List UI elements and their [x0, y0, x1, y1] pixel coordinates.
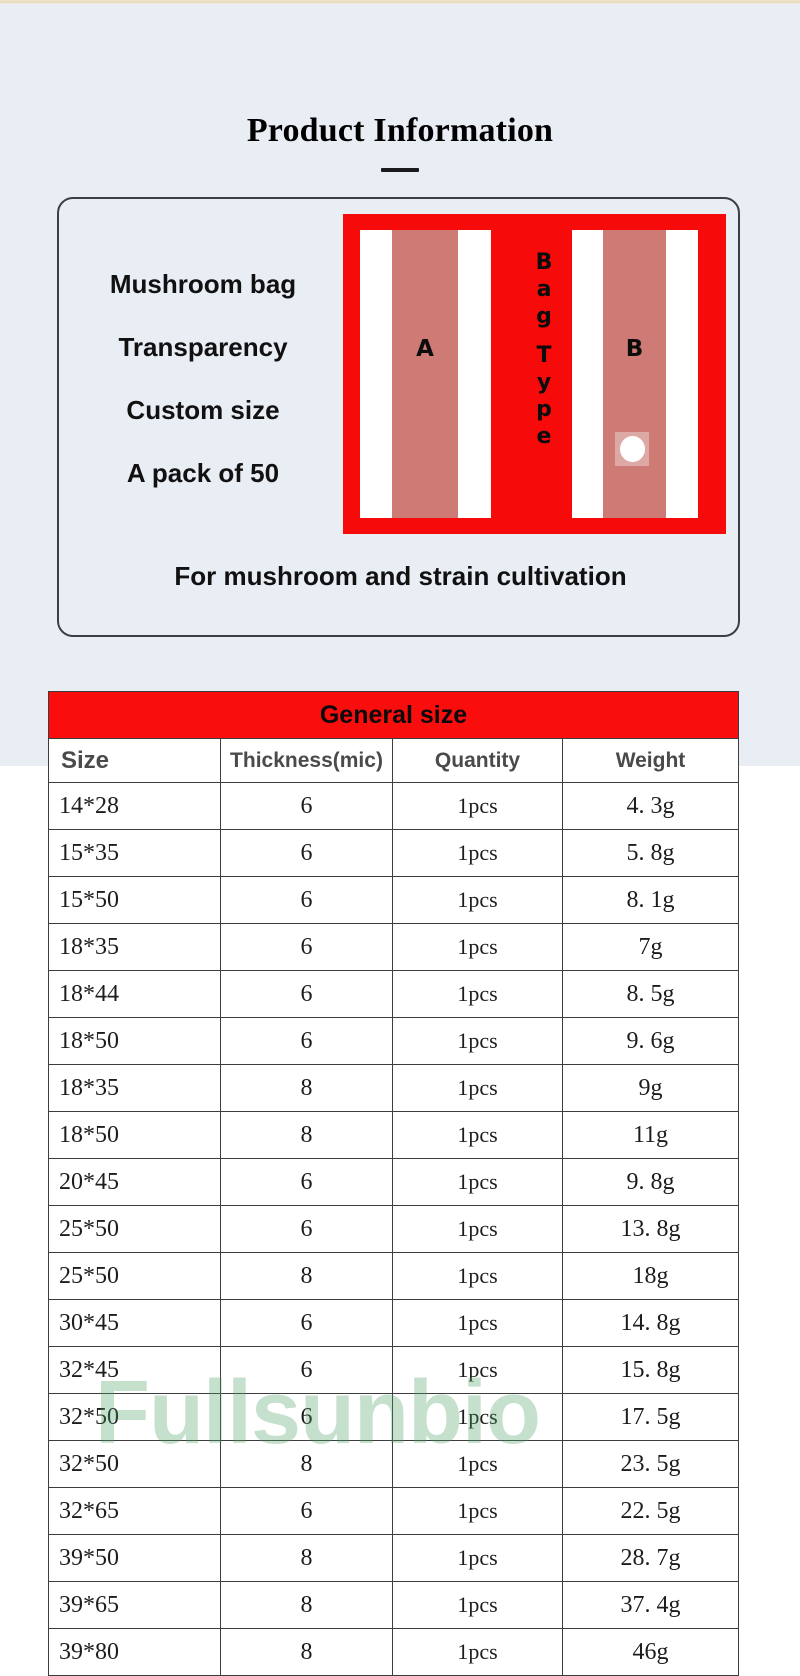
- product-info-card: Mushroom bag Transparency Custom size A …: [57, 197, 740, 637]
- cell-size: 18*35: [49, 924, 221, 971]
- cell-size: 18*50: [49, 1018, 221, 1065]
- table-row: 14*2861pcs4. 3g: [49, 783, 739, 830]
- table-banner-row: General size: [49, 692, 739, 739]
- bag-b-right-white-stripe: [666, 230, 698, 518]
- cell-thickness: 8: [221, 1065, 393, 1112]
- cell-quantity: 1pcs: [393, 1347, 563, 1394]
- cell-weight: 22. 5g: [563, 1488, 739, 1535]
- table-row: 32*4561pcs15. 8g: [49, 1347, 739, 1394]
- feature-item-2: Transparency: [59, 334, 347, 360]
- table-row: 15*3561pcs5. 8g: [49, 830, 739, 877]
- feature-item-4: A pack of 50: [59, 460, 347, 486]
- cell-thickness: 6: [221, 877, 393, 924]
- title-underline-rule: [381, 168, 419, 172]
- cell-thickness: 6: [221, 1018, 393, 1065]
- cell-thickness: 6: [221, 830, 393, 877]
- cell-quantity: 1pcs: [393, 1206, 563, 1253]
- cell-thickness: 6: [221, 971, 393, 1018]
- cell-weight: 9g: [563, 1065, 739, 1112]
- table-row: 15*5061pcs8. 1g: [49, 877, 739, 924]
- cell-thickness: 8: [221, 1253, 393, 1300]
- cell-thickness: 6: [221, 1488, 393, 1535]
- feature-item-1: Mushroom bag: [59, 271, 347, 297]
- cell-thickness: 8: [221, 1582, 393, 1629]
- cell-weight: 8. 5g: [563, 971, 739, 1018]
- cell-weight: 15. 8g: [563, 1347, 739, 1394]
- table-row: 20*4561pcs9. 8g: [49, 1159, 739, 1206]
- cell-quantity: 1pcs: [393, 1253, 563, 1300]
- bag-type-vertical-label: B a g T y p e: [529, 250, 559, 451]
- cell-thickness: 6: [221, 1347, 393, 1394]
- cell-weight: 46g: [563, 1629, 739, 1676]
- table-row: 18*5061pcs9. 6g: [49, 1018, 739, 1065]
- cell-weight: 4. 3g: [563, 783, 739, 830]
- cell-weight: 13. 8g: [563, 1206, 739, 1253]
- bag-a-left-white-stripe: [360, 230, 392, 518]
- cell-size: 14*28: [49, 783, 221, 830]
- cell-quantity: 1pcs: [393, 1441, 563, 1488]
- table-row: 18*3581pcs9g: [49, 1065, 739, 1112]
- cell-quantity: 1pcs: [393, 1629, 563, 1676]
- cell-weight: 8. 1g: [563, 877, 739, 924]
- cell-quantity: 1pcs: [393, 1065, 563, 1112]
- cell-weight: 9. 6g: [563, 1018, 739, 1065]
- bag-type-spacer: [529, 330, 559, 343]
- cell-size: 18*44: [49, 971, 221, 1018]
- cell-size: 30*45: [49, 1300, 221, 1347]
- cell-weight: 18g: [563, 1253, 739, 1300]
- table-row: 39*6581pcs37. 4g: [49, 1582, 739, 1629]
- table-row: 39*5081pcs28. 7g: [49, 1535, 739, 1582]
- column-header-weight: Weight: [563, 739, 739, 783]
- bag-type-illustration: A B B a g T y p e: [343, 214, 726, 534]
- cell-quantity: 1pcs: [393, 924, 563, 971]
- cell-weight: 14. 8g: [563, 1300, 739, 1347]
- table-row: 18*4461pcs8. 5g: [49, 971, 739, 1018]
- table-body: 14*2861pcs4. 3g15*3561pcs5. 8g15*5061pcs…: [49, 783, 739, 1676]
- cell-size: 18*35: [49, 1065, 221, 1112]
- bag-type-char-5: y: [529, 370, 559, 397]
- table-row: 32*5081pcs23. 5g: [49, 1441, 739, 1488]
- bag-type-char-3: g: [529, 304, 559, 331]
- cell-thickness: 8: [221, 1112, 393, 1159]
- cell-quantity: 1pcs: [393, 971, 563, 1018]
- table-row: 32*5061pcs17. 5g: [49, 1394, 739, 1441]
- bag-type-char-4: T: [529, 343, 559, 370]
- bag-a-label: A: [392, 336, 458, 362]
- cell-quantity: 1pcs: [393, 1300, 563, 1347]
- cell-quantity: 1pcs: [393, 1112, 563, 1159]
- bag-b-left-white-stripe: [572, 230, 603, 518]
- cell-size: 32*45: [49, 1347, 221, 1394]
- table-row: 32*6561pcs22. 5g: [49, 1488, 739, 1535]
- cell-weight: 28. 7g: [563, 1535, 739, 1582]
- table-banner-title: General size: [49, 692, 739, 739]
- table-row: 18*3561pcs7g: [49, 924, 739, 971]
- table-row: 25*5081pcs18g: [49, 1253, 739, 1300]
- table-row: 39*8081pcs46g: [49, 1629, 739, 1676]
- column-header-thickness: Thickness(mic): [221, 739, 393, 783]
- feature-item-3: Custom size: [59, 397, 347, 423]
- bag-type-char-2: a: [529, 277, 559, 304]
- feature-list: Mushroom bag Transparency Custom size A …: [59, 271, 347, 523]
- cell-size: 15*35: [49, 830, 221, 877]
- cell-size: 20*45: [49, 1159, 221, 1206]
- cell-quantity: 1pcs: [393, 877, 563, 924]
- cell-size: 32*50: [49, 1441, 221, 1488]
- table-row: 18*5081pcs11g: [49, 1112, 739, 1159]
- table-row: 25*5061pcs13. 8g: [49, 1206, 739, 1253]
- cell-weight: 9. 8g: [563, 1159, 739, 1206]
- table-header-row: Size Thickness(mic) Quantity Weight: [49, 739, 739, 783]
- cell-quantity: 1pcs: [393, 1394, 563, 1441]
- cell-size: 39*65: [49, 1582, 221, 1629]
- page-title: Product Information: [0, 112, 800, 150]
- bag-a-body: [392, 230, 458, 518]
- cell-thickness: 8: [221, 1629, 393, 1676]
- cell-size: 15*50: [49, 877, 221, 924]
- cell-weight: 17. 5g: [563, 1394, 739, 1441]
- cell-quantity: 1pcs: [393, 830, 563, 877]
- cell-quantity: 1pcs: [393, 1018, 563, 1065]
- cell-thickness: 8: [221, 1535, 393, 1582]
- bag-type-char-1: B: [529, 250, 559, 277]
- column-header-size: Size: [49, 739, 221, 783]
- cell-thickness: 6: [221, 924, 393, 971]
- cell-size: 25*50: [49, 1206, 221, 1253]
- cell-weight: 7g: [563, 924, 739, 971]
- bag-type-char-6: p: [529, 397, 559, 424]
- cell-quantity: 1pcs: [393, 1159, 563, 1206]
- bag-b-body: [603, 230, 666, 518]
- cell-quantity: 1pcs: [393, 783, 563, 830]
- cell-size: 32*50: [49, 1394, 221, 1441]
- cell-thickness: 6: [221, 1300, 393, 1347]
- cell-size: 39*80: [49, 1629, 221, 1676]
- cell-size: 18*50: [49, 1112, 221, 1159]
- cell-quantity: 1pcs: [393, 1535, 563, 1582]
- cell-size: 25*50: [49, 1253, 221, 1300]
- cell-thickness: 8: [221, 1441, 393, 1488]
- cell-thickness: 6: [221, 1159, 393, 1206]
- cell-weight: 11g: [563, 1112, 739, 1159]
- cell-weight: 5. 8g: [563, 830, 739, 877]
- table-row: 30*4561pcs14. 8g: [49, 1300, 739, 1347]
- cell-weight: 23. 5g: [563, 1441, 739, 1488]
- bag-b-label: B: [603, 336, 666, 362]
- cell-thickness: 6: [221, 1394, 393, 1441]
- cell-size: 32*65: [49, 1488, 221, 1535]
- cell-quantity: 1pcs: [393, 1488, 563, 1535]
- cell-weight: 37. 4g: [563, 1582, 739, 1629]
- bag-a-right-white-stripe: [458, 230, 491, 518]
- cell-size: 39*50: [49, 1535, 221, 1582]
- column-header-quantity: Quantity: [393, 739, 563, 783]
- card-footer-line: For mushroom and strain cultivation: [59, 561, 742, 592]
- filter-vent-dot: [620, 436, 645, 462]
- cell-thickness: 6: [221, 783, 393, 830]
- cell-quantity: 1pcs: [393, 1582, 563, 1629]
- bag-type-char-7: e: [529, 424, 559, 451]
- cell-thickness: 6: [221, 1206, 393, 1253]
- general-size-table: General size Size Thickness(mic) Quantit…: [48, 691, 739, 1676]
